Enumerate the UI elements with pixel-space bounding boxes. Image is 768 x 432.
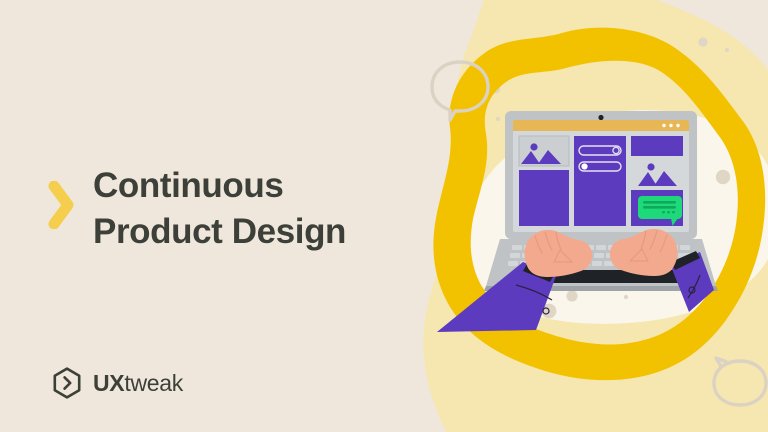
logo-word-tweak: tweak: [124, 370, 183, 396]
uxtweak-hexagon-chevron-icon: [50, 366, 84, 400]
webcam-dot-icon: [598, 115, 603, 120]
browser-bar-dots: [662, 124, 679, 127]
form-panel-center: [574, 136, 626, 226]
block-bottom-left: [519, 170, 569, 226]
uxtweak-logo[interactable]: UXtweak: [50, 366, 183, 400]
chevron-right-icon: [48, 181, 74, 229]
banner-top-right: [631, 136, 683, 156]
banner-canvas: Continuous Product Design UXtweak: [0, 0, 768, 432]
logo-word-ux: UX: [93, 370, 124, 396]
logo-wordmark: UXtweak: [93, 372, 183, 395]
hero-text-block: Continuous Product Design: [48, 163, 408, 254]
page-title: Continuous Product Design: [48, 163, 346, 254]
